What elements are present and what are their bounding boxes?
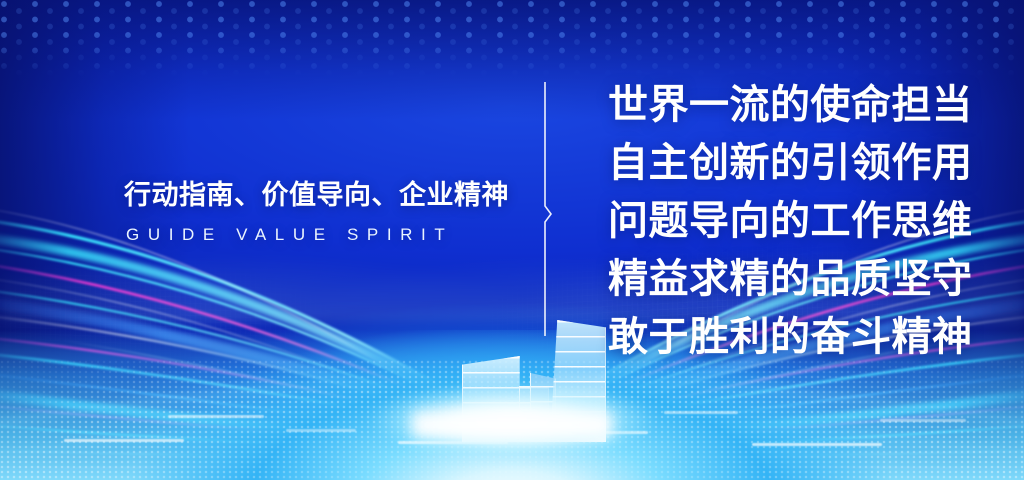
section-divider <box>538 82 556 336</box>
right-text-block: 世界一流的使命担当 自主创新的引领作用 问题导向的工作思维 精益求精的品质坚守 … <box>608 76 1008 366</box>
left-subtitle: GUIDE VALUE SPIRIT <box>126 225 494 245</box>
chevron-right-icon <box>545 82 551 336</box>
left-text-block: 行动指南、价值导向、企业精神 GUIDE VALUE SPIRIT <box>124 180 494 245</box>
center-core-highlight <box>412 412 612 438</box>
slogan-line-2: 自主创新的引领作用 <box>608 134 1008 192</box>
slogan-line-1: 世界一流的使命担当 <box>608 76 1008 134</box>
culture-banner: 行动指南、价值导向、企业精神 GUIDE VALUE SPIRIT 世界一流的使… <box>0 0 1024 480</box>
left-title: 行动指南、价值导向、企业精神 <box>124 180 494 211</box>
slogan-line-5: 敢于胜利的奋斗精神 <box>608 308 1008 366</box>
slogan-line-3: 问题导向的工作思维 <box>608 192 1008 250</box>
slogan-line-4: 精益求精的品质坚守 <box>608 250 1008 308</box>
